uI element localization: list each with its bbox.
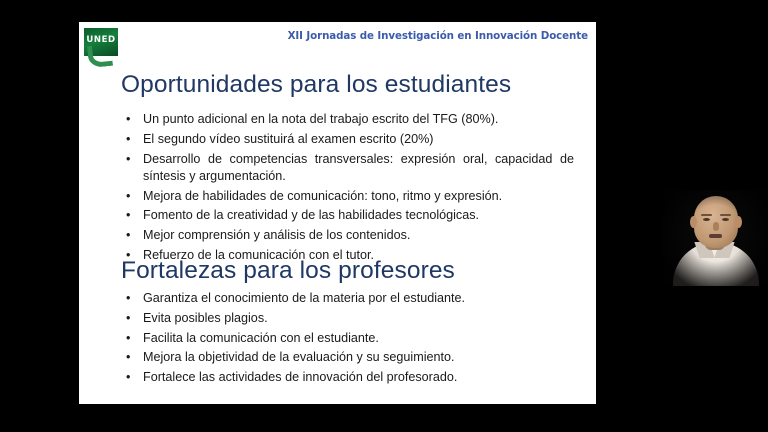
presenter-eye-left [703,218,710,221]
bullet-dot: • [126,369,130,386]
presenter-eyebrow-right [720,214,731,216]
list-item-text: Garantiza el conocimiento de la materia … [143,290,574,307]
bullet-dot: • [126,131,130,148]
logo-wordmark: UNED [84,35,118,45]
uned-logo-icon: UNED [84,28,118,60]
slide-header: UNED XII Jornadas de Investigación en In… [79,22,596,60]
list-item-text: Mejora de habilidades de comunicación: t… [143,188,574,205]
bullet-list-students: • Un punto adicional en la nota del trab… [122,111,574,267]
list-item: • Garantiza el conocimiento de la materi… [122,290,574,307]
presenter-eyebrow-left [701,214,712,216]
list-item-text: Desarrollo de competencias transversales… [143,151,574,186]
event-title: XII Jornadas de Investigación en Innovac… [288,30,588,42]
bullet-dot: • [126,111,130,128]
list-item: • Mejor comprensión y análisis de los co… [122,227,574,244]
list-item-text: Fortalece las actividades de innovación … [143,369,574,386]
list-item-text: Fomento de la creatividad y de las habil… [143,207,574,224]
list-item: • Evita posibles plagios. [122,310,574,327]
list-item: • Un punto adicional en la nota del trab… [122,111,574,128]
presenter-mouth [709,234,722,238]
presenter-eye-right [722,218,729,221]
list-item-text: Facilita la comunicación con el estudian… [143,330,574,347]
list-item: • Fortalece las actividades de innovació… [122,369,574,386]
list-item-text: Evita posibles plagios. [143,310,574,327]
bullet-dot: • [126,330,130,347]
bullet-list-teachers: • Garantiza el conocimiento de la materi… [122,290,574,389]
section-heading-teachers: Fortalezas para los profesores [121,257,455,285]
slide-canvas: UNED XII Jornadas de Investigación en In… [79,22,596,404]
presenter-ear-left [690,216,697,228]
list-item-text: Mejora la objetividad de la evaluación y… [143,349,574,366]
bullet-dot: • [126,349,130,366]
bullet-dot: • [126,227,130,244]
list-item: • Mejora de habilidades de comunicación:… [122,188,574,205]
list-item: • Mejora la objetividad de la evaluación… [122,349,574,366]
list-item: • El segundo vídeo sustituirá al examen … [122,131,574,148]
bullet-dot: • [126,151,130,168]
presenter-nose [713,222,719,231]
bullet-dot: • [126,188,130,205]
presenter-video-overlay[interactable] [663,190,768,286]
logo-swoosh-shape [87,44,113,68]
bullet-dot: • [126,290,130,307]
bullet-dot: • [126,310,130,327]
list-item-text: El segundo vídeo sustituirá al examen es… [143,131,574,148]
list-item-text: Un punto adicional en la nota del trabaj… [143,111,574,128]
list-item: • Fomento de la creatividad y de las hab… [122,207,574,224]
presenter-ear-right [735,216,742,228]
bullet-dot: • [126,207,130,224]
presentation-screen: UNED XII Jornadas de Investigación en In… [0,0,768,432]
section-heading-students: Oportunidades para los estudiantes [121,71,511,99]
list-item-text: Mejor comprensión y análisis de los cont… [143,227,574,244]
list-item: • Desarrollo de competencias transversal… [122,151,574,186]
list-item: • Facilita la comunicación con el estudi… [122,330,574,347]
